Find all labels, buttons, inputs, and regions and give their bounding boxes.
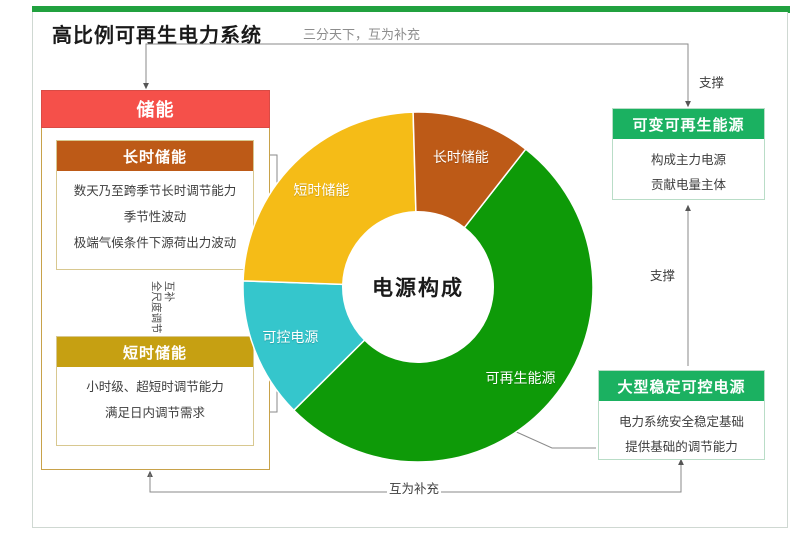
long-duration-line-1: 数天乃至跨季节长时调节能力 <box>74 180 237 199</box>
short-duration-storage-box[interactable]: 短时储能 小时级、超短时调节能力 满足日内调节需求 <box>56 336 254 446</box>
long-duration-storage-header: 长时储能 <box>57 141 253 171</box>
variable-renewable-body: 构成主力电源 贡献电量主体 <box>613 139 764 203</box>
variable-renewable-header: 可变可再生能源 <box>613 109 764 139</box>
short-duration-storage-header: 短时储能 <box>57 337 253 367</box>
long-duration-line-3: 极端气候条件下源荷出力波动 <box>74 232 237 251</box>
donut-slice-2[interactable] <box>243 112 416 284</box>
edge-label-complement-bottom: 互为补充 <box>387 478 441 497</box>
long-duration-line-2: 季节性波动 <box>124 206 187 225</box>
variable-renewable-line-1: 构成主力电源 <box>651 149 726 168</box>
long-duration-storage-box[interactable]: 长时储能 数天乃至跨季节长时调节能力 季节性波动 极端气候条件下源荷出力波动 <box>56 140 254 270</box>
edge-label-support-mid: 支撑 <box>648 265 677 284</box>
page-subtitle: 三分天下，互为补充 <box>303 24 420 43</box>
storage-link-label-fullscale: 全尺度调节 <box>148 281 164 341</box>
page-title: 高比例可再生电力系统 <box>52 19 262 48</box>
diagram-canvas: 高比例可再生电力系统 三分天下，互为补充 <box>0 0 800 536</box>
long-duration-storage-body: 数天乃至跨季节长时调节能力 季节性波动 极端气候条件下源荷出力波动 <box>57 171 253 257</box>
dispatchable-power-header: 大型稳定可控电源 <box>599 371 764 401</box>
variable-renewable-line-2: 贡献电量主体 <box>651 174 726 193</box>
edge-label-support-top: 支撑 <box>697 72 726 91</box>
dispatchable-power-line-1: 电力系统安全稳定基础 <box>619 411 744 430</box>
dispatchable-power-body: 电力系统安全稳定基础 提供基础的调节能力 <box>599 401 764 465</box>
short-duration-line-2: 满足日内调节需求 <box>105 402 205 421</box>
dispatchable-power-box[interactable]: 大型稳定可控电源 电力系统安全稳定基础 提供基础的调节能力 <box>598 370 765 460</box>
dispatchable-power-line-2: 提供基础的调节能力 <box>625 436 738 455</box>
power-mix-donut-chart[interactable]: 可再生能源可控电源短时储能长时储能 <box>243 112 593 462</box>
short-duration-line-1: 小时级、超短时调节能力 <box>86 376 224 395</box>
variable-renewable-box[interactable]: 可变可再生能源 构成主力电源 贡献电量主体 <box>612 108 765 200</box>
donut-svg <box>243 112 593 462</box>
short-duration-storage-body: 小时级、超短时调节能力 满足日内调节需求 <box>57 367 253 427</box>
storage-panel-header: 储能 <box>41 90 270 128</box>
